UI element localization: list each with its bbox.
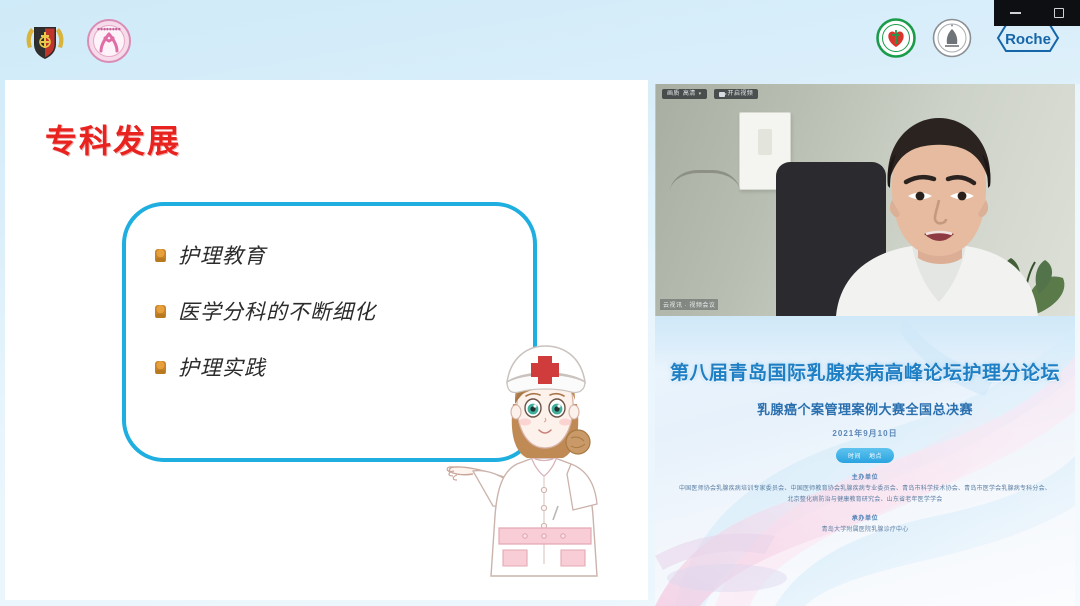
bullet-label: 医学分科的不断细化 (178, 296, 376, 326)
svg-text:●●●●●●●●: ●●●●●●●● (97, 27, 121, 31)
bullet-label: 护理实践 (178, 352, 266, 382)
pink-ribbon-logo: ●●●●●●●● (86, 18, 132, 64)
bullet-list: 护理教育 医学分科的不断细化 护理实践 (155, 240, 376, 382)
bullet-label: 护理教育 (178, 240, 266, 270)
poster-title: 第八届青岛国际乳腺疾病高峰论坛护理分论坛 (655, 358, 1075, 385)
video-control-chips[interactable]: 画质 高清 ▾ 开启视频 (662, 89, 758, 99)
video-watermark: 云视讯 · 视频会议 (660, 299, 718, 310)
slide-title: 专科发展 (45, 116, 181, 162)
shield-emblem-logo (22, 18, 68, 64)
bullet-marker-icon (155, 249, 166, 262)
video-quality-label: 画质 (667, 91, 680, 97)
presentation-slide: 专科发展 护理教育 医学分科的不断细化 护理实践 (5, 80, 648, 600)
poster-date: 2021年9月10日 (655, 428, 1075, 439)
toggle-camera-chip[interactable]: 开启视频 (714, 89, 759, 99)
organizer-line: 北京整化病防治与健康教育研究会、山东省老年医学学会 (655, 495, 1075, 506)
host-heading: 承办单位 (655, 513, 1075, 522)
bullet-marker-icon (155, 305, 166, 318)
app-root: ●●●●●●●● Roche (0, 0, 1080, 606)
speaker-portrait (826, 116, 1056, 316)
badge-place-label: 地点 (869, 451, 882, 460)
list-item: 护理教育 (155, 240, 376, 270)
video-quality-chip[interactable]: 画质 高清 ▾ (662, 89, 707, 99)
header-left-logos: ●●●●●●●● (22, 18, 132, 64)
speaker-video-panel[interactable]: 画质 高清 ▾ 开启视频 云视讯 · 视频会议 (655, 84, 1075, 316)
organizer-line: 中国医师协会乳腺疾病培训专家委员会、中国医师教育协会乳腺疾病专业委员会、青岛市科… (655, 484, 1075, 495)
window-controls (994, 0, 1080, 26)
list-item: 医学分科的不断细化 (155, 296, 376, 326)
host-line: 青岛大学附属医院乳腺诊疗中心 (655, 525, 1075, 536)
toggle-camera-label: 开启视频 (728, 91, 754, 97)
bullet-marker-icon (155, 361, 166, 374)
maximize-button[interactable] (1048, 2, 1070, 24)
roche-wordmark: Roche (1005, 31, 1051, 48)
camera-icon (719, 92, 725, 97)
gray-institution-logo (932, 18, 972, 58)
nurse-illustration (445, 338, 645, 586)
event-poster-panel: 第八届青岛国际乳腺疾病高峰论坛护理分论坛 乳腺癌个案管理案例大赛全国总决赛 20… (655, 316, 1075, 606)
list-item: 护理实践 (155, 352, 376, 382)
minimize-button[interactable] (1005, 2, 1027, 24)
badge-time-label: 时间 (848, 451, 861, 460)
poster-subtitle: 乳腺癌个案管理案例大赛全国总决赛 (655, 399, 1075, 418)
chevron-down-icon: ▾ (699, 92, 702, 97)
poster-organizers: 主办单位 中国医师协会乳腺疾病培训专家委员会、中国医师教育协会乳腺疾病专业委员会… (655, 472, 1075, 535)
green-medical-association-logo (876, 18, 916, 58)
panel-right-edge (1075, 84, 1080, 606)
poster-badge: 时间 地点 (836, 448, 894, 463)
organizer-heading: 主办单位 (655, 472, 1075, 481)
video-quality-value: 高清 (683, 91, 696, 97)
roche-logo: Roche (988, 21, 1060, 55)
